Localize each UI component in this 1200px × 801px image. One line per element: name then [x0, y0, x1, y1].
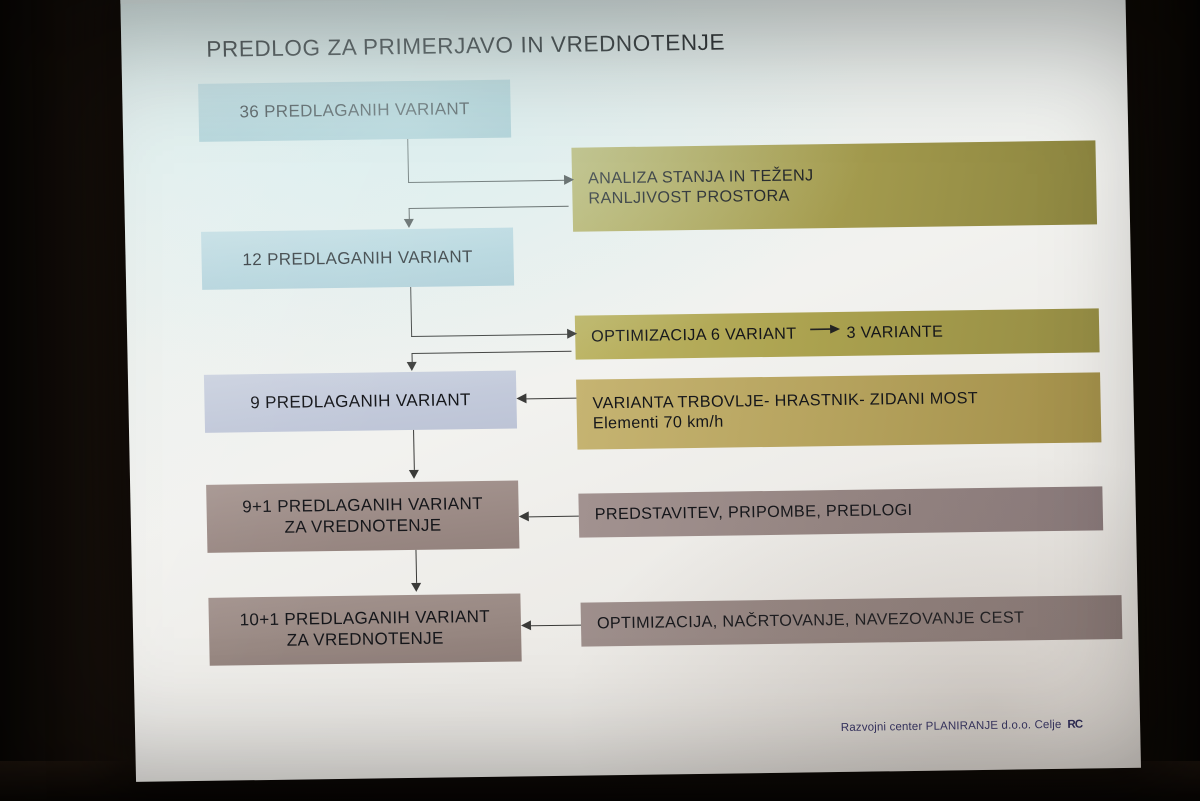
flow-box-optimizacija-nacrtovanje[interactable]: OPTIMIZACIJA, NAČRTOVANJE, NAVEZOVANJE C… [581, 595, 1123, 647]
company-logo: RC [1067, 719, 1082, 731]
arrow-head-into-9plus1 [409, 470, 419, 479]
arrow-head-into-12 [404, 219, 414, 228]
flow-box-label: PREDSTAVITEV, PRIPOMBE, PREDLOGI [595, 501, 913, 525]
flow-box-label: VARIANTA TRBOVLJE- HRASTNIK- ZIDANI MOST… [592, 389, 978, 434]
connector-optimizacija-back [412, 351, 572, 355]
arrow-head-to-analiza [564, 175, 574, 185]
flow-box-10plus1-variant[interactable]: 10+1 PREDLAGANIH VARIANT ZA VREDNOTENJE [208, 593, 521, 665]
flow-box-label: OPTIMIZACIJA, NAČRTOVANJE, NAVEZOVANJE C… [597, 609, 1025, 635]
projection-screen: razvojna os srednji del PREDLOG ZA PRIME… [120, 0, 1141, 782]
arrow-head-into-10plus1 [411, 583, 421, 592]
slide-footer-text: Razvojni center PLANIRANJE d.o.o. Celje [841, 719, 1062, 734]
flow-box-label-before: OPTIMIZACIJA 6 VARIANT [591, 325, 797, 348]
flow-box-label: 9 PREDLAGANIH VARIANT [250, 390, 471, 414]
connector-varianta-to-9 [526, 398, 576, 400]
flow-box-9-variant[interactable]: 9 PREDLAGANIH VARIANT [204, 371, 517, 433]
connector-9-to-9plus1 [413, 430, 415, 470]
flow-box-analiza-stanja[interactable]: ANALIZA STANJA IN TEŽENJ RANLJIVOST PROS… [571, 140, 1097, 231]
flow-box-label: 9+1 PREDLAGANIH VARIANT ZA VREDNOTENJE [242, 494, 483, 539]
arrow-head-into-9 [407, 362, 417, 371]
flow-box-label-after: 3 VARIANTE [846, 323, 943, 344]
flow-box-9plus1-variant[interactable]: 9+1 PREDLAGANIH VARIANT ZA VREDNOTENJE [206, 480, 519, 552]
flow-box-12-variant[interactable]: 12 PREDLAGANIH VARIANT [201, 228, 514, 290]
flow-box-optimizacija-6-variant[interactable]: OPTIMIZACIJA 6 VARIANT 3 VARIANTE [575, 308, 1100, 359]
flow-box-label: 10+1 PREDLAGANIH VARIANT ZA VREDNOTENJE [239, 607, 490, 652]
slide-footer: Razvojni center PLANIRANJE d.o.o. CeljeR… [841, 719, 1082, 734]
flow-box-36-variant[interactable]: 36 PREDLAGANIH VARIANT [198, 80, 511, 142]
connector-predstavitev-to-9plus1 [529, 516, 579, 518]
connector-optimizacija2-to-10plus1 [531, 625, 581, 627]
connector-12-to-optimizacija [411, 334, 569, 338]
arrow-head-into-9-left [516, 393, 526, 403]
arrow-head-into-10plus1-left [521, 620, 531, 630]
flow-box-label: 36 PREDLAGANIH VARIANT [239, 99, 470, 123]
flow-box-label: 12 PREDLAGANIH VARIANT [242, 247, 473, 271]
flow-box-label: ANALIZA STANJA IN TEŽENJ RANLJIVOST PROS… [588, 167, 814, 210]
connector-36-down [407, 139, 409, 183]
inline-arrow-right-icon [810, 321, 840, 341]
page-title: PREDLOG ZA PRIMERJAVO IN VREDNOTENJE [206, 30, 725, 63]
screen-top-strip [120, 0, 1125, 4]
connector-36-to-analiza [408, 180, 566, 184]
flow-box-predstavitev-pripombe[interactable]: PREDSTAVITEV, PRIPOMBE, PREDLOGI [578, 486, 1103, 537]
connector-9plus1-to-10plus1 [415, 550, 417, 583]
photo-of-projected-slide: razvojna os srednji del PREDLOG ZA PRIME… [0, 0, 1200, 801]
arrow-head-into-9plus1-left [519, 511, 529, 521]
arrow-head-to-optimizacija [567, 329, 577, 339]
connector-analiza-back [409, 206, 569, 210]
connector-12-down [410, 287, 412, 337]
flow-box-varianta-trbovlje[interactable]: VARIANTA TRBOVLJE- HRASTNIK- ZIDANI MOST… [576, 372, 1101, 449]
